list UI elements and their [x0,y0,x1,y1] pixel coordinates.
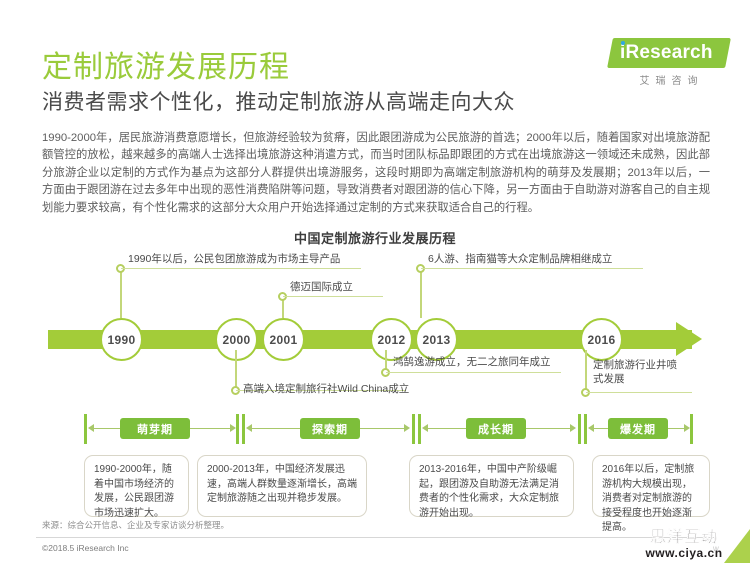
phase-arrow-line-3l [426,428,466,429]
source-note: 来源：综合公开信息、企业及专家访谈分析整理。 [42,519,229,531]
phase-arrowhead-1r-icon [230,424,236,432]
annotation-1990: 1990年以后，公民包团旅游成为市场主导产品 [128,252,340,266]
phase-arrowhead-1l-icon [88,424,94,432]
watermark-url: www.ciya.cn [628,547,740,559]
phase-arrowhead-3l-icon [422,424,428,432]
phase-separator-start [84,414,87,444]
phase-separator-2 [412,414,415,444]
watermark-brand: 思洋互动 [628,530,740,546]
phase-arrow-line-1r [190,428,234,429]
phase-arrow-line-2l [250,428,300,429]
phase-arrowhead-2l-icon [246,424,252,432]
phase-description-1: 1990-2000年，随着中国市场经济的发展，公民跟团游市场迅速扩大。 [84,455,189,517]
phase-label-4[interactable]: 爆发期 [608,418,668,439]
phase-separator-1 [236,414,239,444]
phase-separator-2b [418,414,421,444]
annotation-2013: 鸿鹄逸游成立，无二之旅同年成立 [393,355,551,369]
phase-separator-3b [584,414,587,444]
annotation-2016: 定制旅游行业井喷式发展 [593,358,685,386]
phase-arrowhead-4r-icon [684,424,690,432]
footer-divider [36,537,714,538]
annotation-2000: 高端入境定制旅行社Wild China成立 [243,382,409,396]
annotation-2012: 6人游、指南猫等大众定制品牌相继成立 [428,252,612,266]
phase-label-2[interactable]: 探索期 [300,418,360,439]
phase-separator-1b [242,414,245,444]
slide-root: iResearch 艾瑞咨询 定制旅游发展历程 消费者需求个性化，推动定制旅游从… [0,0,750,563]
timeline-node-2001[interactable]: 2001 [262,318,305,361]
connector-stem-2016 [585,350,587,392]
connector-underline-2016 [586,392,692,393]
connector-underline-2012 [421,268,643,269]
phase-description-4: 2016年以后，定制旅游机构大规模出现，消费者对定制旅游的接受程度也开始逐渐提高… [592,455,710,517]
connector-underline-2001 [283,296,383,297]
phase-separator-3 [578,414,581,444]
phase-arrow-line-1l [90,428,120,429]
phase-arrow-line-2r [360,428,408,429]
connector-underline-2013 [386,372,561,373]
timeline-node-1990[interactable]: 1990 [100,318,143,361]
phase-separator-end [690,414,693,444]
phase-label-3[interactable]: 成长期 [466,418,526,439]
phase-arrowhead-2r-icon [404,424,410,432]
phase-arrow-line-4l [592,428,608,429]
phase-label-1[interactable]: 萌芽期 [120,418,190,439]
connector-underline-1990 [121,268,361,269]
timeline-arrow-icon [676,322,702,356]
connector-stem-1990 [120,268,122,318]
watermark: 思洋互动 www.ciya.cn [628,530,740,559]
annotation-2001: 德迈国际成立 [290,280,353,294]
phase-description-2: 2000-2013年，中国经济发展迅速，高端人群数量逐渐增长，高端定制旅游随之出… [197,455,367,517]
phase-arrowhead-4l-icon [588,424,594,432]
phase-arrow-line-3r [526,428,572,429]
phase-arrowhead-3r-icon [570,424,576,432]
connector-stem-2012 [420,268,422,318]
phase-description-3: 2013-2016年，中国中产阶级崛起，跟团游及自助游无法满足消费者的个性化需求… [409,455,574,517]
copyright-text: ©2018.5 iResearch Inc [42,543,129,553]
connector-stem-2000 [235,350,237,390]
